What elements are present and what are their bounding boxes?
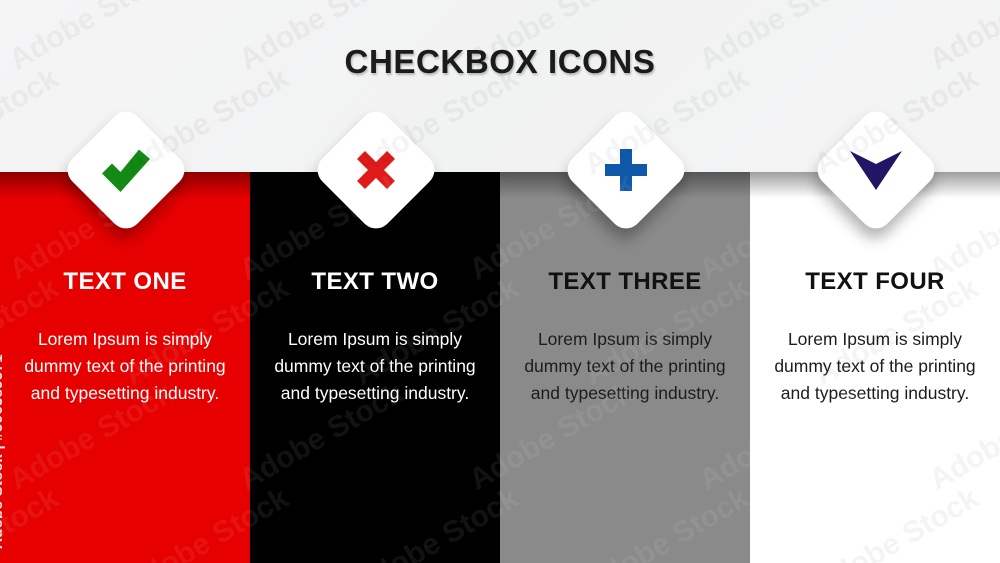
column-text-two: TEXT TWO Lorem Ipsum is simply dummy tex…: [250, 268, 500, 407]
infographic-canvas: Adobe StockAdobe StockAdobe StockAdobe S…: [0, 0, 1000, 563]
column-text-four: TEXT FOUR Lorem Ipsum is simply dummy te…: [750, 268, 1000, 407]
column-text-one: TEXT ONE Lorem Ipsum is simply dummy tex…: [0, 268, 250, 407]
cross-icon: [311, 105, 441, 235]
column-body-three: Lorem Ipsum is simply dummy text of the …: [520, 326, 730, 407]
column-heading-three: TEXT THREE: [520, 268, 730, 296]
page-title: CHECKBOX ICONS: [0, 43, 1000, 81]
column-heading-one: TEXT ONE: [20, 268, 230, 296]
column-heading-two: TEXT TWO: [270, 268, 480, 296]
check-icon: [61, 105, 191, 235]
column-body-four: Lorem Ipsum is simply dummy text of the …: [770, 326, 980, 407]
column-body-two: Lorem Ipsum is simply dummy text of the …: [270, 326, 480, 407]
stock-watermark-label: Adobe Stock | #596389571: [0, 354, 6, 549]
column-body-one: Lorem Ipsum is simply dummy text of the …: [20, 326, 230, 407]
icon-badge-four[interactable]: [811, 105, 941, 235]
plus-icon: [561, 105, 691, 235]
icon-badge-three[interactable]: [561, 105, 691, 235]
chevron-down-icon: [811, 105, 941, 235]
column-heading-four: TEXT FOUR: [770, 268, 980, 296]
icon-badge-one[interactable]: [61, 105, 191, 235]
icon-badge-two[interactable]: [311, 105, 441, 235]
column-text-three: TEXT THREE Lorem Ipsum is simply dummy t…: [500, 268, 750, 407]
